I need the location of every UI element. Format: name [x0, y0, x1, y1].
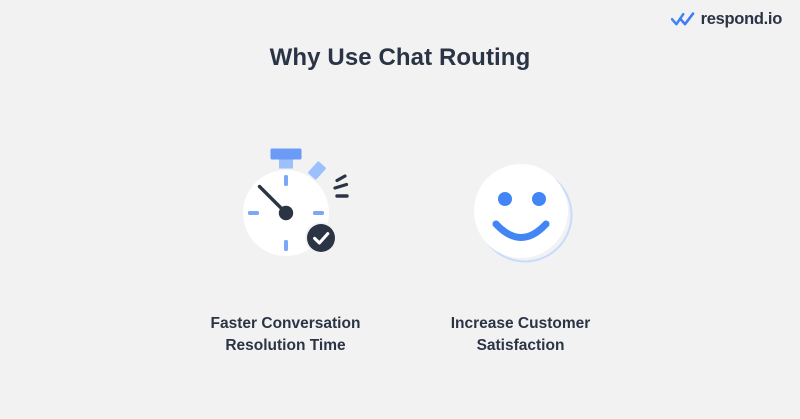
check-badge — [307, 224, 335, 252]
poster-canvas: respond.io Why Use Chat Routing — [0, 0, 800, 419]
left-eye — [498, 192, 512, 206]
feature-item: Increase Customer Satisfaction — [403, 140, 638, 357]
brand-logo: respond.io — [671, 11, 782, 28]
motion-line-2 — [335, 185, 347, 189]
stopwatch-top-button — [270, 149, 301, 160]
page-title: Why Use Chat Routing — [0, 44, 800, 72]
stopwatch-stem — [279, 160, 293, 169]
stopwatch-crown — [307, 161, 326, 180]
tick-12 — [284, 175, 288, 186]
double-check-icon — [671, 11, 695, 27]
tick-6 — [284, 240, 288, 251]
right-eye — [532, 192, 546, 206]
smiley-face-icon — [451, 140, 591, 280]
feature-caption: Increase Customer Satisfaction — [451, 313, 591, 357]
tick-3 — [313, 211, 324, 215]
feature-caption: Faster Conversation Resolution Time — [211, 313, 361, 357]
feature-list: Faster Conversation Resolution Time Incr… — [168, 140, 638, 357]
tick-9 — [248, 211, 259, 215]
brand-name: respond.io — [701, 11, 782, 28]
motion-line-1 — [337, 176, 345, 181]
face-circle — [474, 164, 568, 258]
stopwatch-check-icon — [216, 140, 356, 280]
clock-hub — [278, 206, 292, 220]
feature-item: Faster Conversation Resolution Time — [168, 140, 403, 357]
